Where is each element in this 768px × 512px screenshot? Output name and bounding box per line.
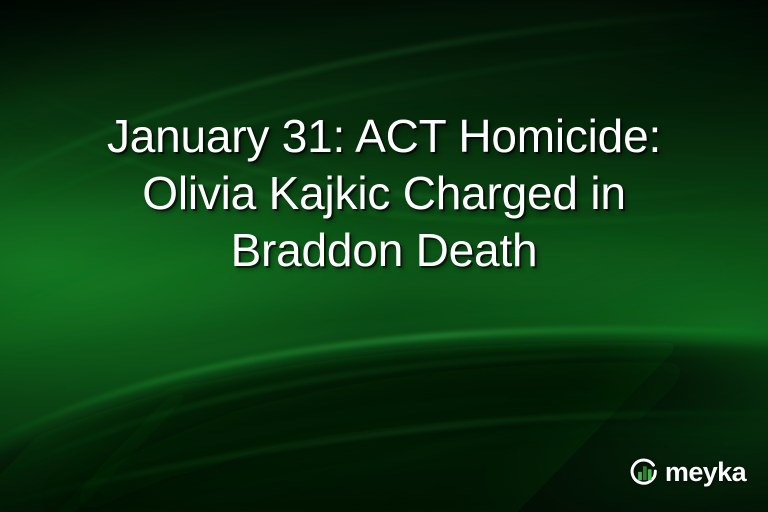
brand-logo: meyka [629, 457, 746, 488]
brand-wordmark: meyka [665, 459, 746, 486]
article-banner: January 31: ACT Homicide: Olivia Kajkic … [0, 0, 768, 512]
headline-line-2: Olivia Kajkic Charged in [46, 165, 722, 222]
headline-line-1: January 31: ACT Homicide: [46, 108, 722, 165]
headline: January 31: ACT Homicide: Olivia Kajkic … [0, 108, 768, 279]
circle-bar-chart-icon [629, 457, 660, 488]
headline-line-3: Braddon Death [46, 222, 722, 279]
